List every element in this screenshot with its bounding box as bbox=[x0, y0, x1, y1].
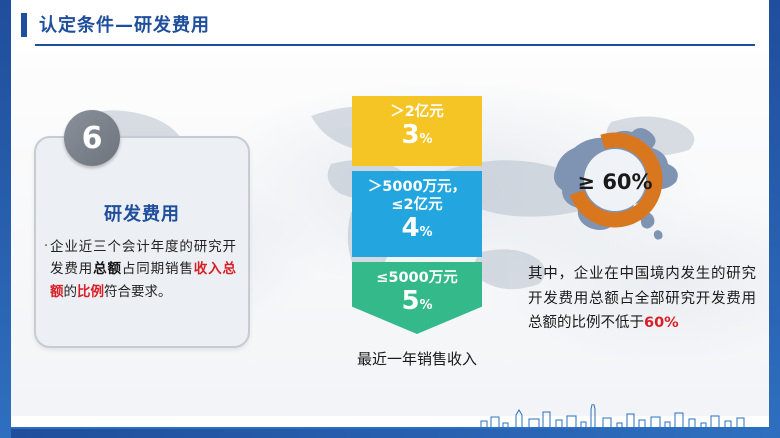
card-body-part3: 的 bbox=[64, 284, 78, 300]
card-body: 企业近三个会计年度的研究开发费用总额占同期销售收入总额的比例符合要求。 bbox=[50, 236, 236, 303]
funnel-step-2-unit: % bbox=[420, 225, 433, 240]
card-body-part4: 符合要求。 bbox=[104, 284, 172, 300]
funnel-step-1-unit: % bbox=[420, 132, 433, 147]
funnel-step-3-number: 5 bbox=[401, 286, 419, 316]
funnel-step-1: ＞2亿元 3% bbox=[352, 96, 482, 166]
step-number-badge: 6 bbox=[64, 110, 120, 166]
funnel-step-2-number: 4 bbox=[401, 213, 419, 243]
slide: 认定条件—研发费用 研发费用 · 企业近三个会计年度的研究开发费用总额占同期销售… bbox=[0, 0, 780, 438]
funnel-step-2-label-line2: ≤2亿元 bbox=[352, 196, 482, 214]
right-description-text: 其中，企业在中国境内发生的研究开发费用总额占全部研究开发费用总额的比例不低于 bbox=[528, 266, 756, 331]
funnel-step-3-value: 5% bbox=[352, 287, 482, 316]
funnel-step-3-unit: % bbox=[420, 298, 433, 313]
donut-center-label: ≥ 60% bbox=[540, 170, 690, 194]
left-edge-bar bbox=[0, 0, 11, 438]
card-body-part2: 占同期销售 bbox=[122, 261, 194, 277]
funnel-step-2: ＞5000万元， ≤2亿元 4% bbox=[352, 171, 482, 257]
funnel-chart: ＞2亿元 3% ＞5000万元， ≤2亿元 4% ≤5000万元 5% 最近一年… bbox=[352, 96, 482, 339]
funnel-caption: 最近一年销售收入 bbox=[326, 348, 508, 369]
funnel-step-2-value: 4% bbox=[352, 214, 482, 249]
funnel-step-3: ≤5000万元 5% bbox=[352, 262, 482, 334]
funnel-step-1-label: ＞2亿元 bbox=[352, 96, 482, 121]
card-body-emphasis-3: 比例 bbox=[77, 284, 104, 300]
header-accent-bar bbox=[21, 13, 27, 37]
funnel-step-3-label: ≤5000万元 bbox=[352, 262, 482, 287]
footer-bar bbox=[11, 429, 769, 438]
bullet-icon: · bbox=[44, 239, 48, 254]
page-title: 认定条件—研发费用 bbox=[39, 11, 210, 37]
funnel-step-2-label-line1: ＞5000万元， bbox=[352, 178, 482, 196]
footer bbox=[11, 404, 769, 438]
funnel-step-1-number: 3 bbox=[401, 120, 419, 150]
card-body-emphasis-1: 总额 bbox=[93, 261, 122, 277]
right-description: 其中，企业在中国境内发生的研究开发费用总额占全部研究开发费用总额的比例不低于60… bbox=[528, 262, 756, 336]
header-divider bbox=[35, 44, 755, 46]
donut-chart: ≥ 60% bbox=[540, 108, 690, 258]
funnel-step-2-label: ＞5000万元， ≤2亿元 bbox=[352, 171, 482, 214]
card-title: 研发费用 bbox=[36, 200, 248, 226]
condition-card: 研发费用 · 企业近三个会计年度的研究开发费用总额占同期销售收入总额的比例符合要… bbox=[34, 136, 250, 348]
funnel-step-1-value: 3% bbox=[352, 121, 482, 156]
header: 认定条件—研发费用 bbox=[11, 0, 769, 52]
right-edge-bar bbox=[769, 0, 780, 438]
right-description-emphasis: 60% bbox=[644, 315, 679, 331]
